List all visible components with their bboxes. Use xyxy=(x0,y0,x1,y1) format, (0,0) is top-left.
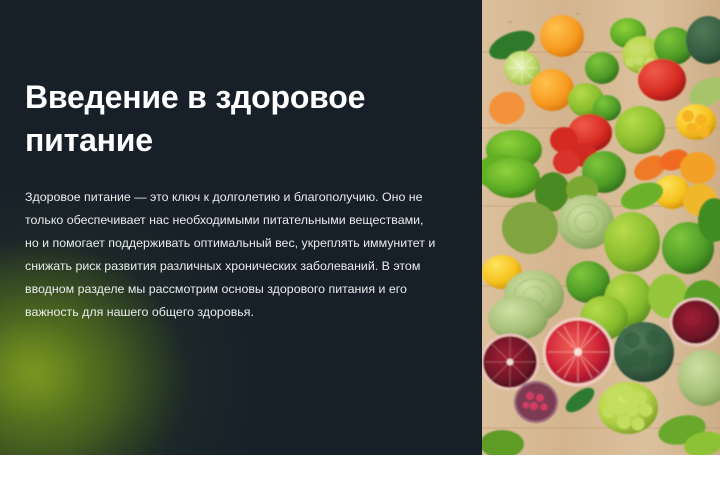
slide-body-paragraph: Здоровое питание — это ключ к долголетию… xyxy=(25,186,440,324)
text-panel: Введение в здоровое питание Здоровое пит… xyxy=(0,0,482,455)
photo-illustration xyxy=(482,0,720,455)
slide-canvas: Введение в здоровое питание Здоровое пит… xyxy=(0,0,720,455)
fruits-and-vegetables-photo xyxy=(482,0,720,455)
slide-title: Введение в здоровое питание xyxy=(25,76,445,162)
page-bottom-margin xyxy=(0,455,720,480)
